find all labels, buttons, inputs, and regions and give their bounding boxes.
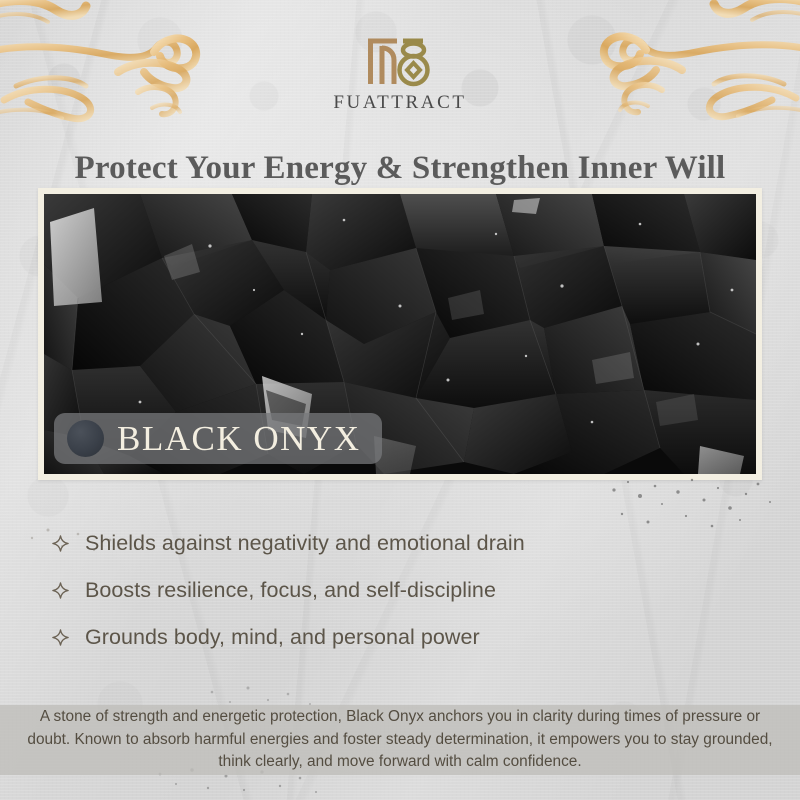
list-item: Grounds body, mind, and personal power — [52, 614, 752, 661]
benefit-text: Grounds body, mind, and personal power — [85, 625, 480, 650]
hero-image-frame: BLACK ONYX — [38, 188, 762, 480]
fuattract-seal-icon — [363, 34, 437, 88]
benefit-text: Shields against negativity and emotional… — [85, 531, 525, 556]
page-title: Protect Your Energy & Strengthen Inner W… — [0, 150, 800, 187]
stone-name-label: BLACK ONYX — [117, 421, 360, 456]
poster-canvas: FUATTRACT Protect Your Energy & Strength… — [0, 0, 800, 800]
list-item: Boosts resilience, focus, and self-disci… — [52, 567, 752, 614]
four-point-star-icon — [52, 582, 69, 599]
benefits-list: Shields against negativity and emotional… — [52, 520, 752, 661]
brand-wordmark: FUATTRACT — [0, 92, 800, 114]
stone-name-badge: BLACK ONYX — [54, 413, 382, 464]
brand-logo: FUATTRACT — [0, 34, 800, 114]
four-point-star-icon — [52, 535, 69, 552]
benefit-text: Boosts resilience, focus, and self-disci… — [85, 578, 496, 603]
footer-description-text: A stone of strength and energetic protec… — [26, 706, 774, 774]
four-point-star-icon — [52, 629, 69, 646]
stone-color-swatch-icon — [67, 420, 104, 457]
black-onyx-crystal-image: BLACK ONYX — [44, 194, 756, 474]
list-item: Shields against negativity and emotional… — [52, 520, 752, 567]
footer-description-band: A stone of strength and energetic protec… — [0, 705, 800, 775]
